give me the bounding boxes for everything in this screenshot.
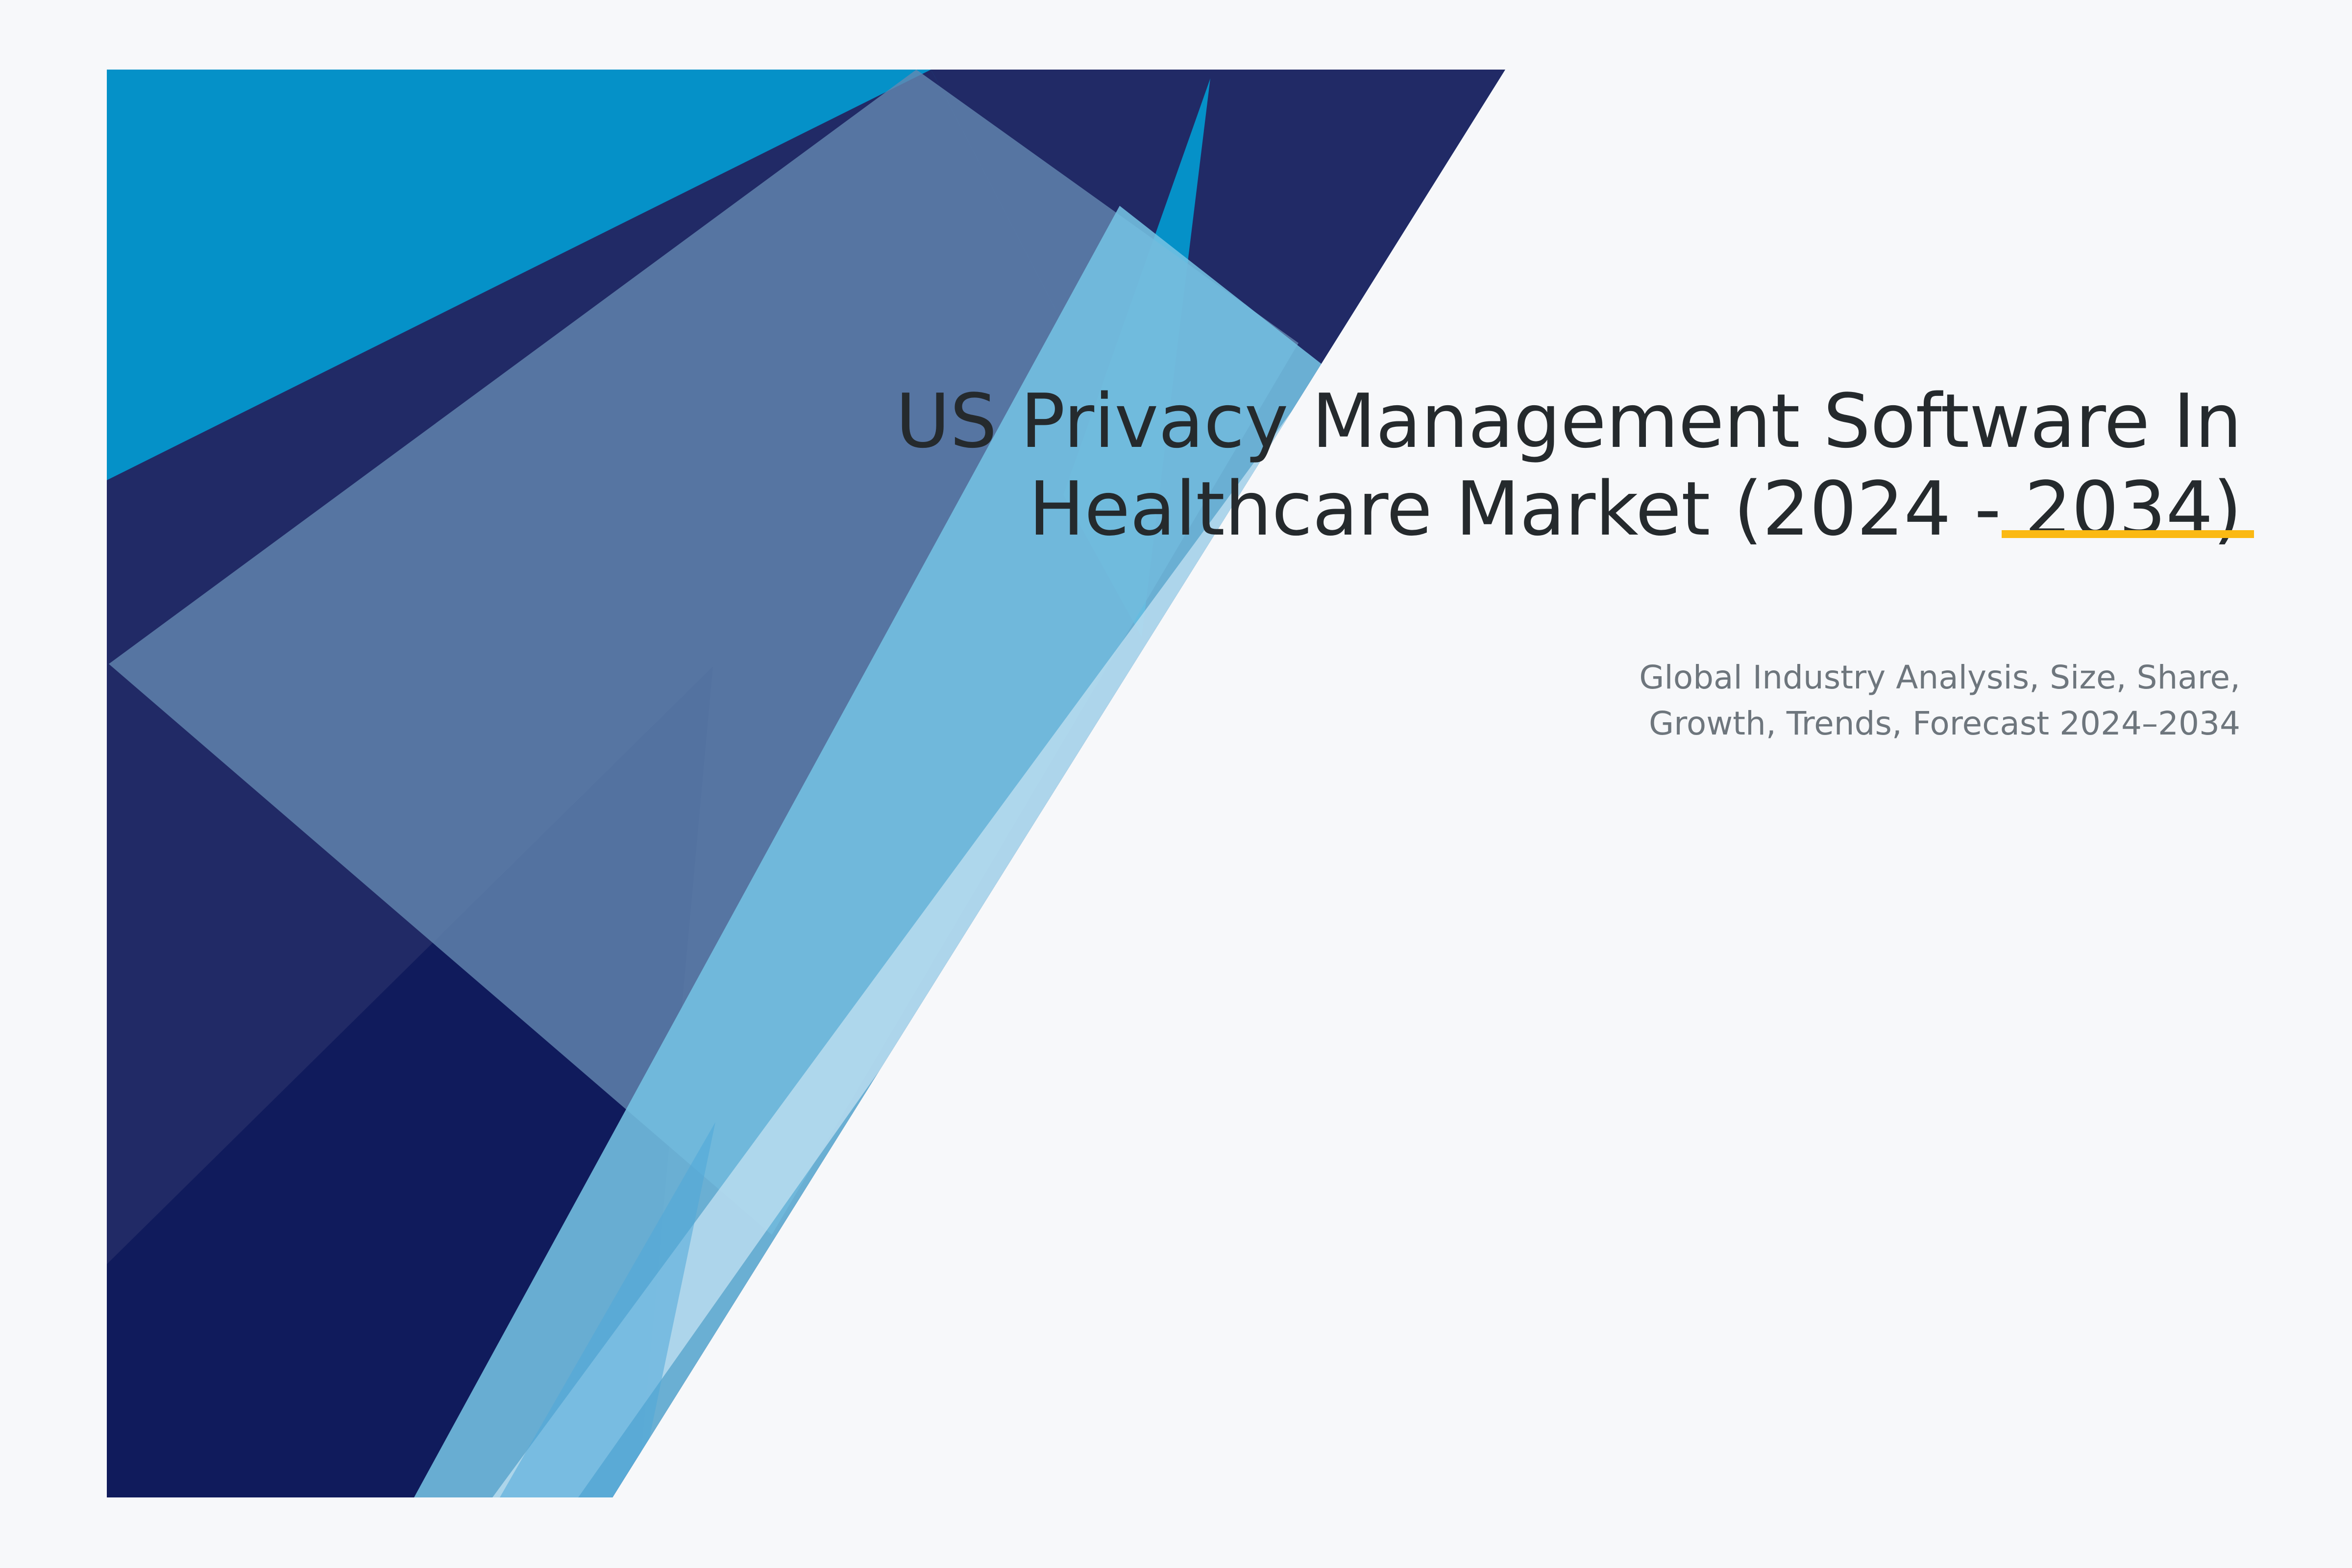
- cover-text-block: US Privacy Management Software In Health…: [833, 377, 2242, 553]
- page-title: US Privacy Management Software In Health…: [833, 377, 2242, 553]
- page-subtitle: Global Industry Analysis, Size, Share, G…: [833, 655, 2240, 746]
- accent-underline-rule: [2002, 530, 2254, 538]
- abstract-geometric-banner: [0, 0, 2352, 1568]
- report-cover-page: US Privacy Management Software In Health…: [0, 0, 2352, 1568]
